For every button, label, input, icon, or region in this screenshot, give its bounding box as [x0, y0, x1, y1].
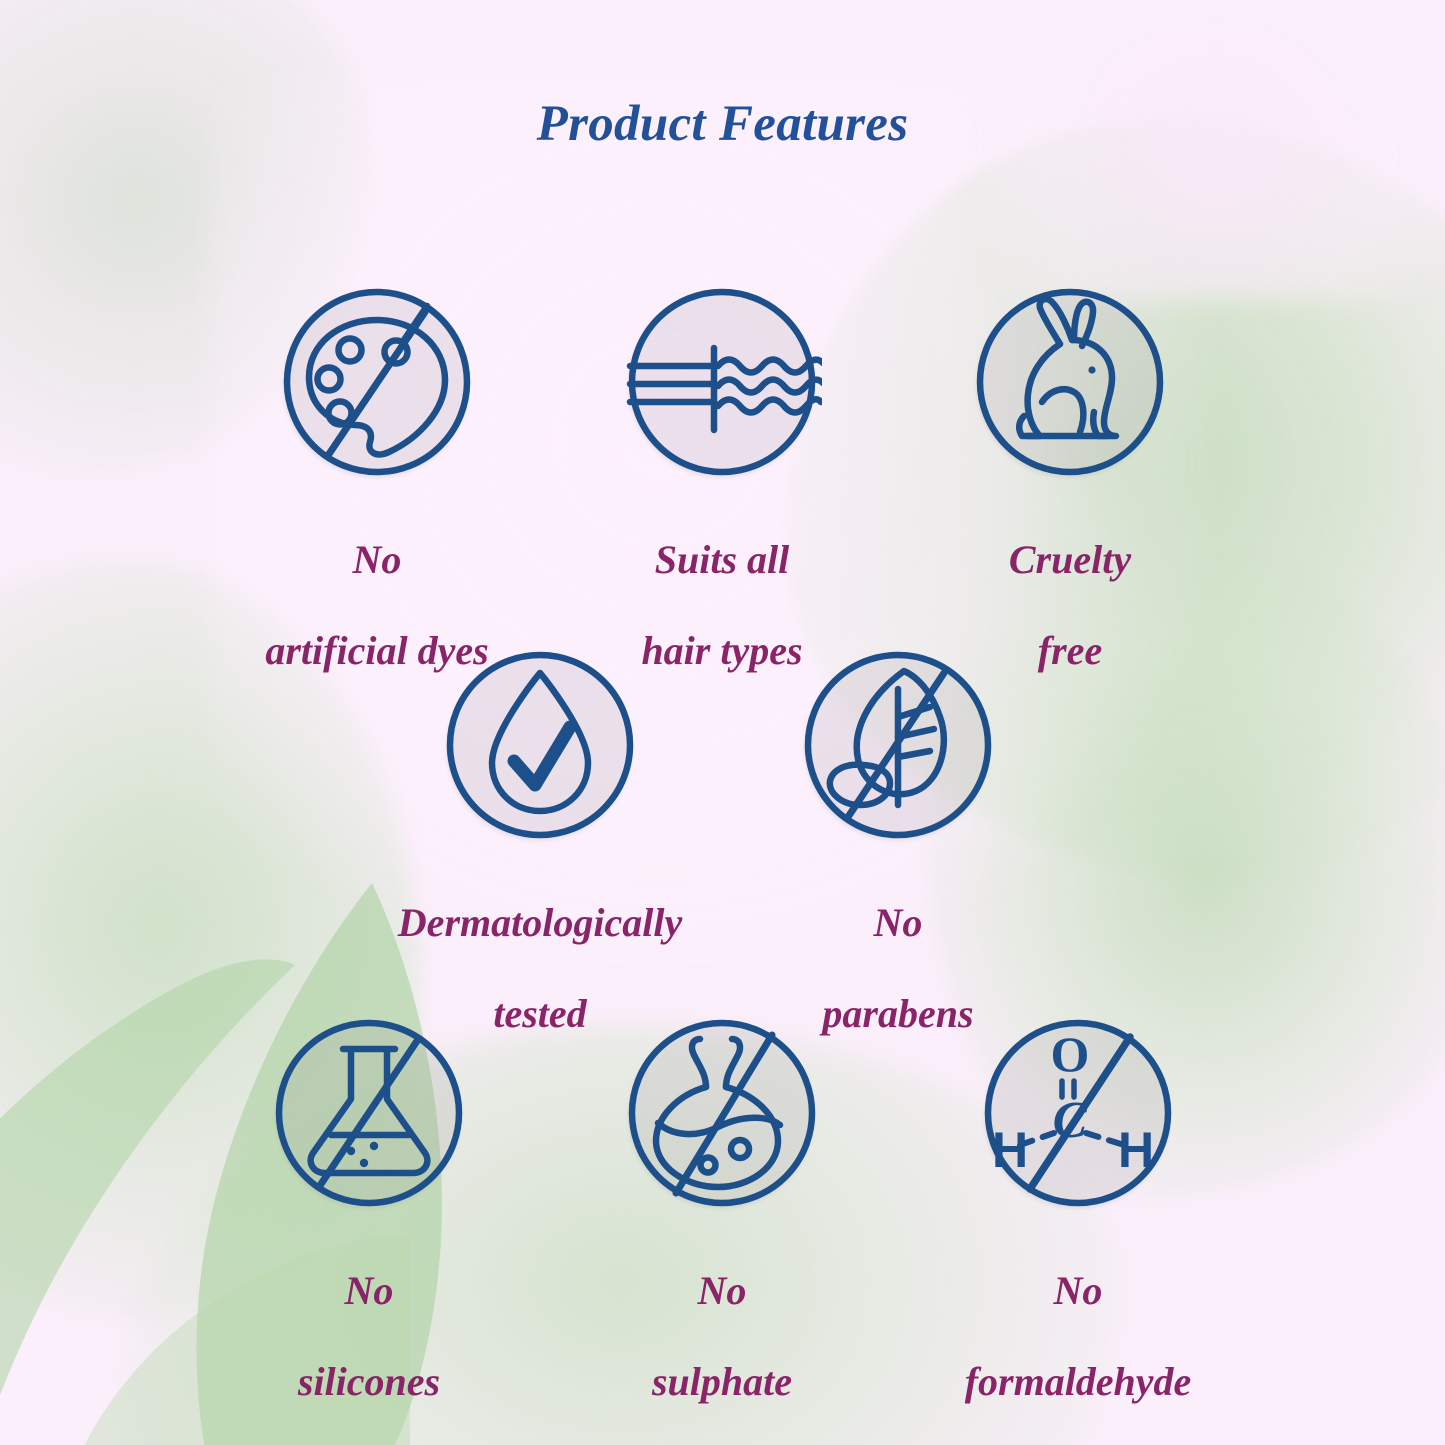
formaldehyde-molecule-crossed-icon: O C H H [978, 1013, 1178, 1213]
molecule-atom-oxygen: O [1051, 1026, 1090, 1082]
feature-label-no-silicones: No silicones [219, 1223, 519, 1445]
icon-badge-no-parabens [798, 645, 998, 845]
molecule-atom-hydrogen-right: H [1118, 1122, 1154, 1178]
icon-badge-dermatologically-tested [440, 645, 640, 845]
feature-no-formaldehyde[interactable]: O C H H No formaldehyde [928, 1013, 1228, 1445]
molecule-atom-hydrogen-left: H [992, 1122, 1028, 1178]
feature-no-sulphate[interactable]: No sulphate [572, 1013, 872, 1445]
icon-badge-no-formaldehyde: O C H H [978, 1013, 1178, 1213]
icon-badge-suits-all-hair-types [622, 282, 822, 482]
icon-badge-no-artificial-dyes [277, 282, 477, 482]
product-features-poster: Product Features No artificial dyes [0, 0, 1445, 1445]
feature-label-no-formaldehyde: No formaldehyde [928, 1223, 1228, 1445]
icon-badge-no-sulphate [622, 1013, 822, 1213]
straight-wavy-hair-icon [622, 282, 822, 482]
feature-label-no-sulphate: No sulphate [572, 1223, 872, 1445]
feature-no-silicones[interactable]: No silicones [219, 1013, 519, 1445]
water-drop-check-icon [440, 645, 640, 845]
palette-crossed-icon [277, 282, 477, 482]
rabbit-icon [970, 282, 1170, 482]
erlenmeyer-flask-crossed-icon [269, 1013, 469, 1213]
icon-badge-cruelty-free [970, 282, 1170, 482]
round-flask-crossed-icon [622, 1013, 822, 1213]
page-title: Product Features [0, 95, 1445, 153]
icon-badge-no-silicones [269, 1013, 469, 1213]
leaf-crossed-icon [798, 645, 998, 845]
